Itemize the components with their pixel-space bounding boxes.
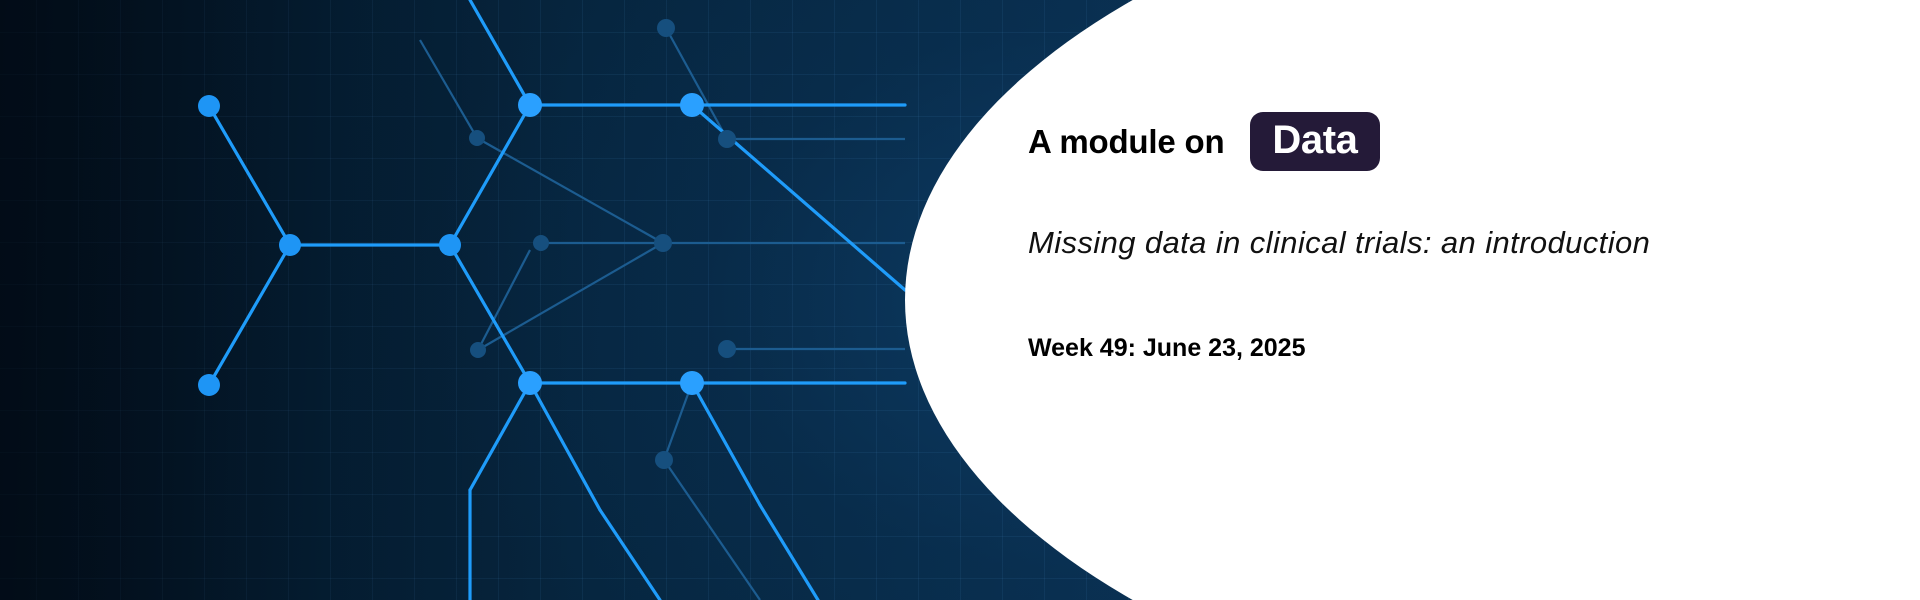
banner-content: A module on Data Missing data in clinica… bbox=[1028, 0, 1888, 600]
dim-edges bbox=[210, 28, 905, 600]
course-module-banner: A module on Data Missing data in clinica… bbox=[0, 0, 1920, 600]
headline-row: A module on Data bbox=[1028, 112, 1380, 171]
headline-prefix: A module on bbox=[1028, 125, 1224, 158]
module-subtitle: Missing data in clinical trials: an intr… bbox=[1028, 224, 1650, 261]
bright-edges bbox=[209, 0, 905, 600]
week-date-line: Week 49: June 23, 2025 bbox=[1028, 333, 1306, 363]
bright-nodes bbox=[198, 93, 704, 396]
topic-badge: Data bbox=[1250, 112, 1379, 171]
